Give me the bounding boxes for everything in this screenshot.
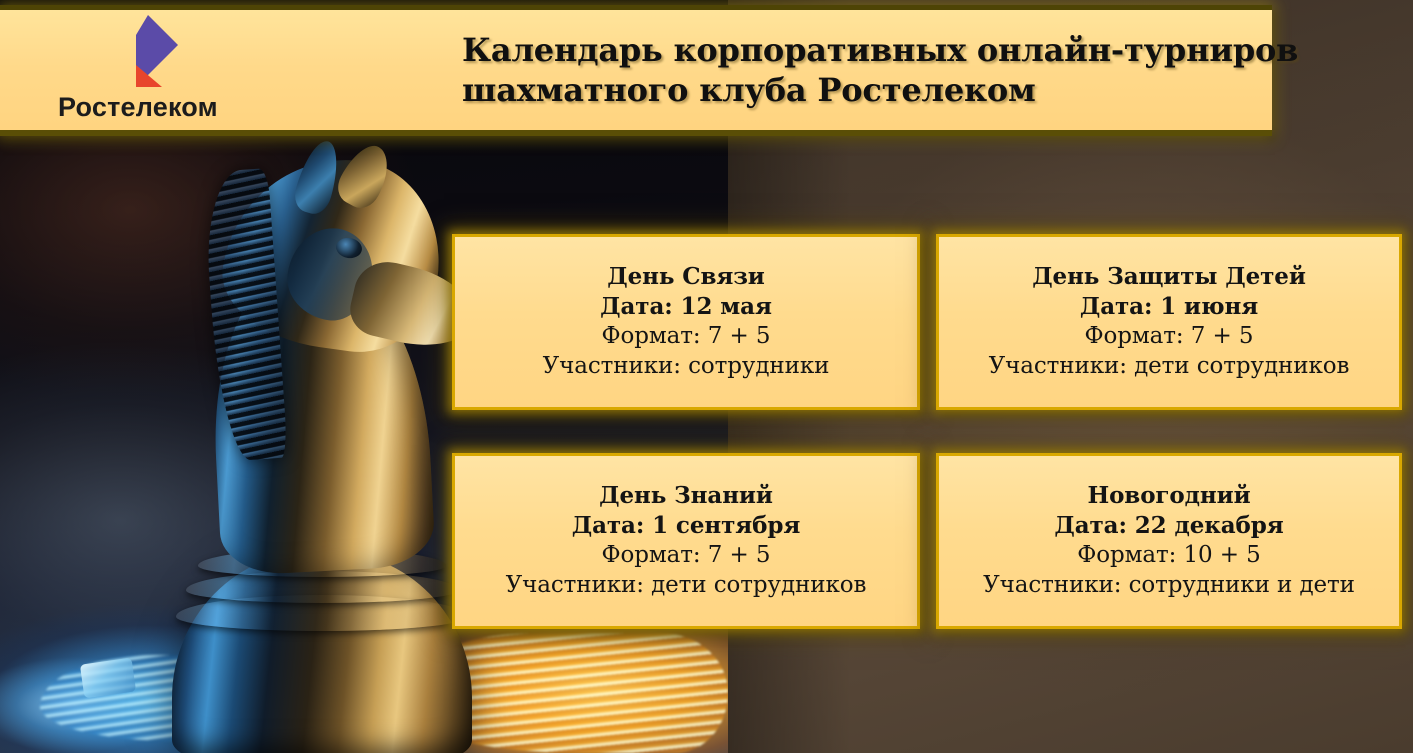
tournament-card-den-zashchity-detey[interactable]: День Защиты Детей Дата: 1 июня Формат: 7… xyxy=(936,234,1402,410)
card-title: День Защиты Детей xyxy=(1032,262,1306,292)
card-date: Дата: 22 декабря xyxy=(1054,511,1283,541)
page-title: Календарь корпоративных онлайн-турниров … xyxy=(452,10,1318,130)
card-format: Формат: 7 + 5 xyxy=(602,541,771,571)
card-date: Дата: 12 мая xyxy=(600,292,772,322)
card-participants: Участники: дети сотрудников xyxy=(989,352,1350,382)
rj45-plug-icon xyxy=(80,658,136,699)
page-title-line-2: шахматного клуба Ростелеком xyxy=(462,70,1298,110)
card-format: Формат: 7 + 5 xyxy=(602,322,771,352)
card-participants: Участники: сотрудники xyxy=(543,352,830,382)
card-date: Дата: 1 июня xyxy=(1080,292,1258,322)
logo-block: Ростелеком xyxy=(0,10,452,130)
card-format: Формат: 7 + 5 xyxy=(1085,322,1254,352)
rostelecom-mark-icon xyxy=(106,13,186,93)
card-title: Новогодний xyxy=(1087,481,1250,511)
tournament-card-den-svyazi[interactable]: День Связи Дата: 12 мая Формат: 7 + 5 Уч… xyxy=(452,234,920,410)
card-participants: Участники: дети сотрудников xyxy=(506,571,867,601)
slide-canvas: Ростелеком Календарь корпоративных онлай… xyxy=(0,0,1413,753)
tournament-card-den-znaniy[interactable]: День Знаний Дата: 1 сентября Формат: 7 +… xyxy=(452,453,920,629)
header-bar: Ростелеком Календарь корпоративных онлай… xyxy=(0,5,1272,136)
card-title: День Связи xyxy=(607,262,765,292)
tournament-card-novogodniy[interactable]: Новогодний Дата: 22 декабря Формат: 10 +… xyxy=(936,453,1402,629)
page-title-line-1: Календарь корпоративных онлайн-турниров xyxy=(462,30,1298,70)
card-date: Дата: 1 сентября xyxy=(572,511,801,541)
rostelecom-wordmark: Ростелеком xyxy=(58,92,218,123)
card-participants: Участники: сотрудники и дети xyxy=(983,571,1355,601)
card-format: Формат: 10 + 5 xyxy=(1077,541,1260,571)
card-title: День Знаний xyxy=(599,481,773,511)
